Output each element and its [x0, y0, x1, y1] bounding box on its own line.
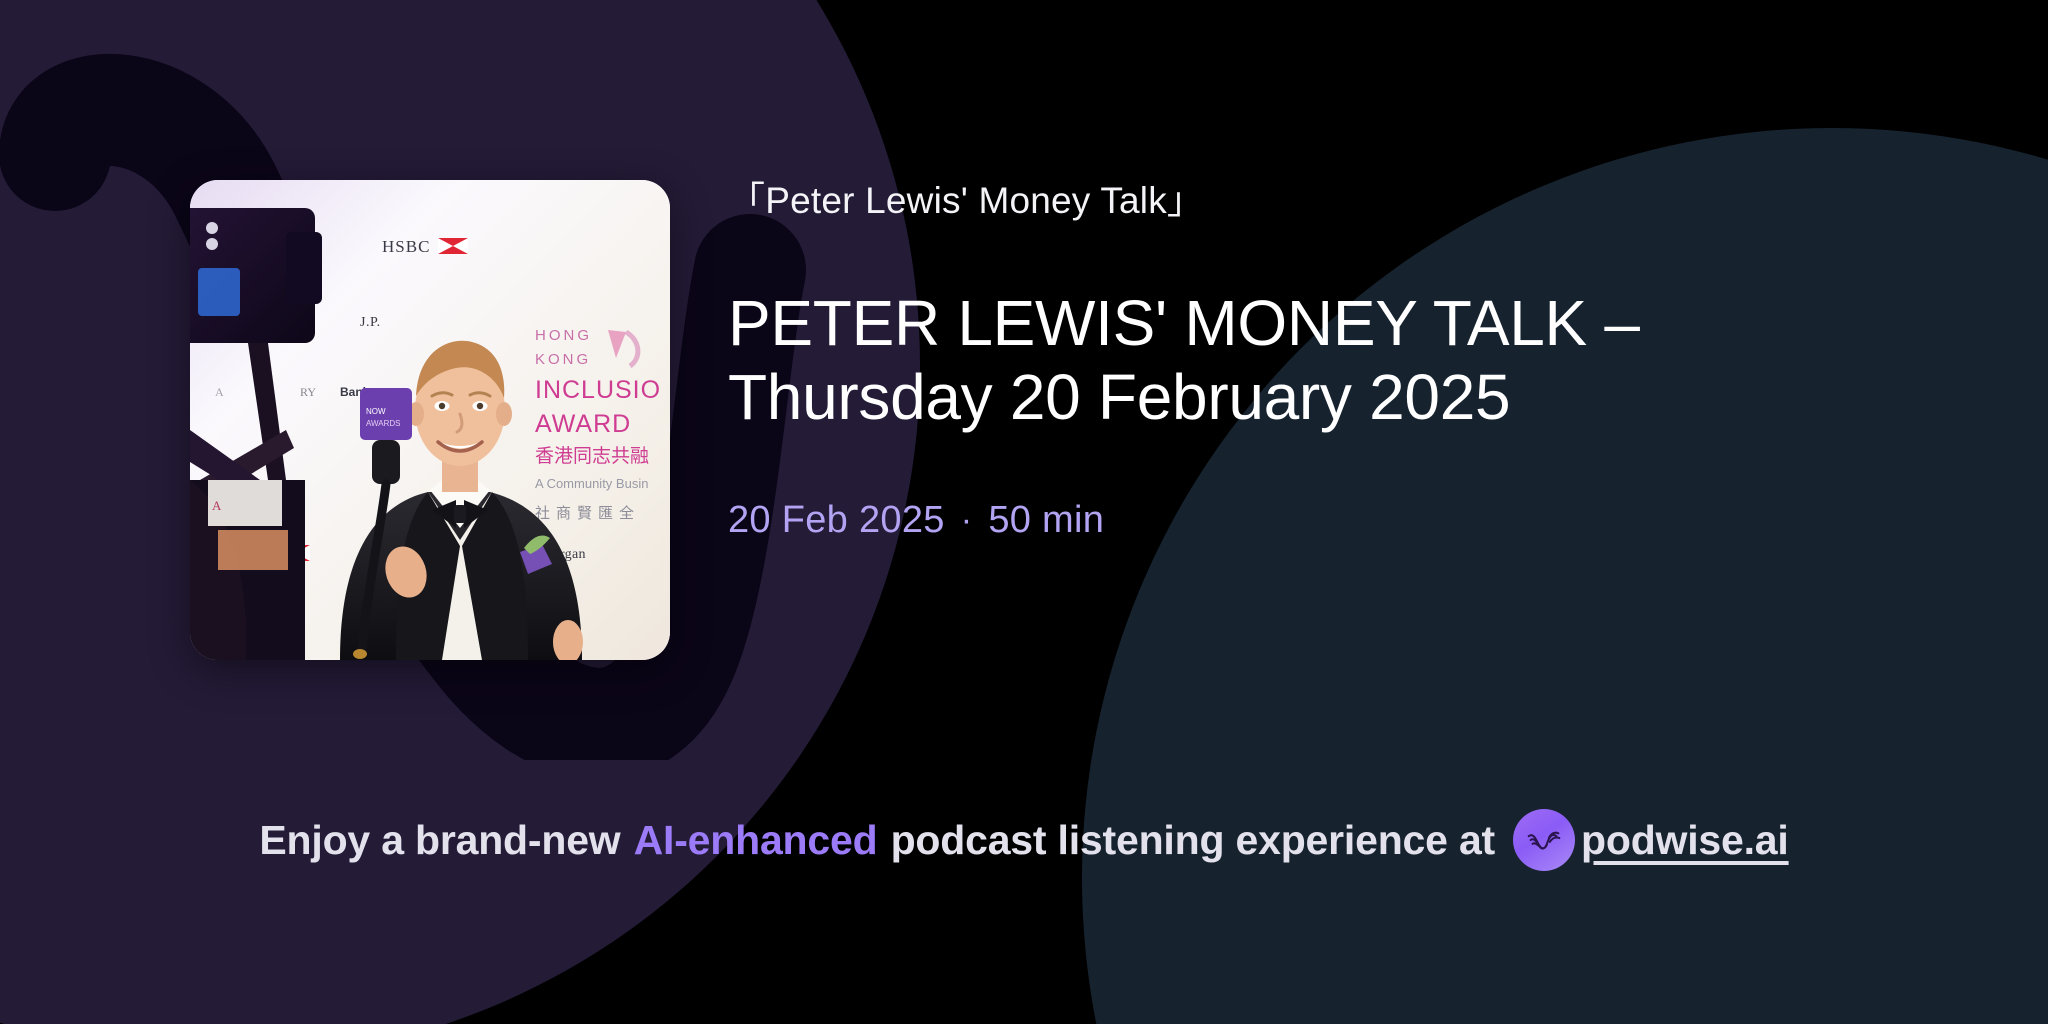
- svg-text:社商賢匯全: 社商賢匯全: [535, 504, 640, 522]
- episode-meta-row: 20 Feb 2025 · 50 min: [728, 499, 1908, 542]
- svg-text:AWARDS: AWARDS: [366, 419, 401, 428]
- episode-title-line-1: PETER LEWIS' MONEY TALK –: [728, 287, 1640, 359]
- episode-text-column: 「Peter Lewis' Money Talk」 PETER LEWIS' M…: [728, 178, 1908, 542]
- tagline-text-before: Enjoy a brand-new: [259, 817, 620, 864]
- svg-text:HSBC: HSBC: [382, 237, 430, 256]
- card-content: HSBC J.P. J.P.Morgan Goldman Sachs Ameri…: [0, 0, 2048, 1024]
- meta-separator-dot: ·: [961, 501, 973, 540]
- tagline-text-after: podcast listening experience at: [891, 817, 1495, 864]
- episode-date: 20 Feb 2025: [728, 499, 945, 542]
- podwise-brand-link[interactable]: podwise.ai: [1513, 809, 1789, 871]
- svg-text:NOW: NOW: [366, 407, 386, 416]
- episode-share-card: HSBC J.P. J.P.Morgan Goldman Sachs Ameri…: [0, 0, 2048, 1024]
- podwise-wave-logo-icon: [1513, 809, 1575, 871]
- svg-text:KONG: KONG: [535, 351, 591, 368]
- svg-text:A Community Busin: A Community Busin: [535, 476, 648, 491]
- tagline-accent-text: AI-enhanced: [634, 817, 878, 864]
- episode-title: PETER LEWIS' MONEY TALK – Thursday 20 Fe…: [728, 286, 1888, 434]
- svg-text:AWARD: AWARD: [535, 410, 631, 438]
- svg-text:HONG: HONG: [535, 327, 592, 344]
- podcast-show-name: 「Peter Lewis' Money Talk」: [728, 178, 1908, 224]
- svg-text:INCLUSIO: INCLUSIO: [535, 376, 661, 404]
- footer-tagline: Enjoy a brand-new AI-enhanced podcast li…: [0, 800, 2048, 880]
- episode-cover-art: HSBC J.P. J.P.Morgan Goldman Sachs Ameri…: [190, 180, 670, 660]
- svg-text:RY: RY: [300, 385, 316, 399]
- podwise-brand-name[interactable]: podwise.ai: [1581, 817, 1789, 864]
- episode-title-line-2: Thursday 20 February 2025: [728, 361, 1510, 433]
- episode-duration: 50 min: [988, 499, 1104, 542]
- svg-text:香港同志共融: 香港同志共融: [535, 445, 649, 467]
- svg-text:J.P.: J.P.: [360, 315, 381, 330]
- svg-text:A: A: [215, 385, 224, 399]
- svg-text:A: A: [212, 498, 222, 513]
